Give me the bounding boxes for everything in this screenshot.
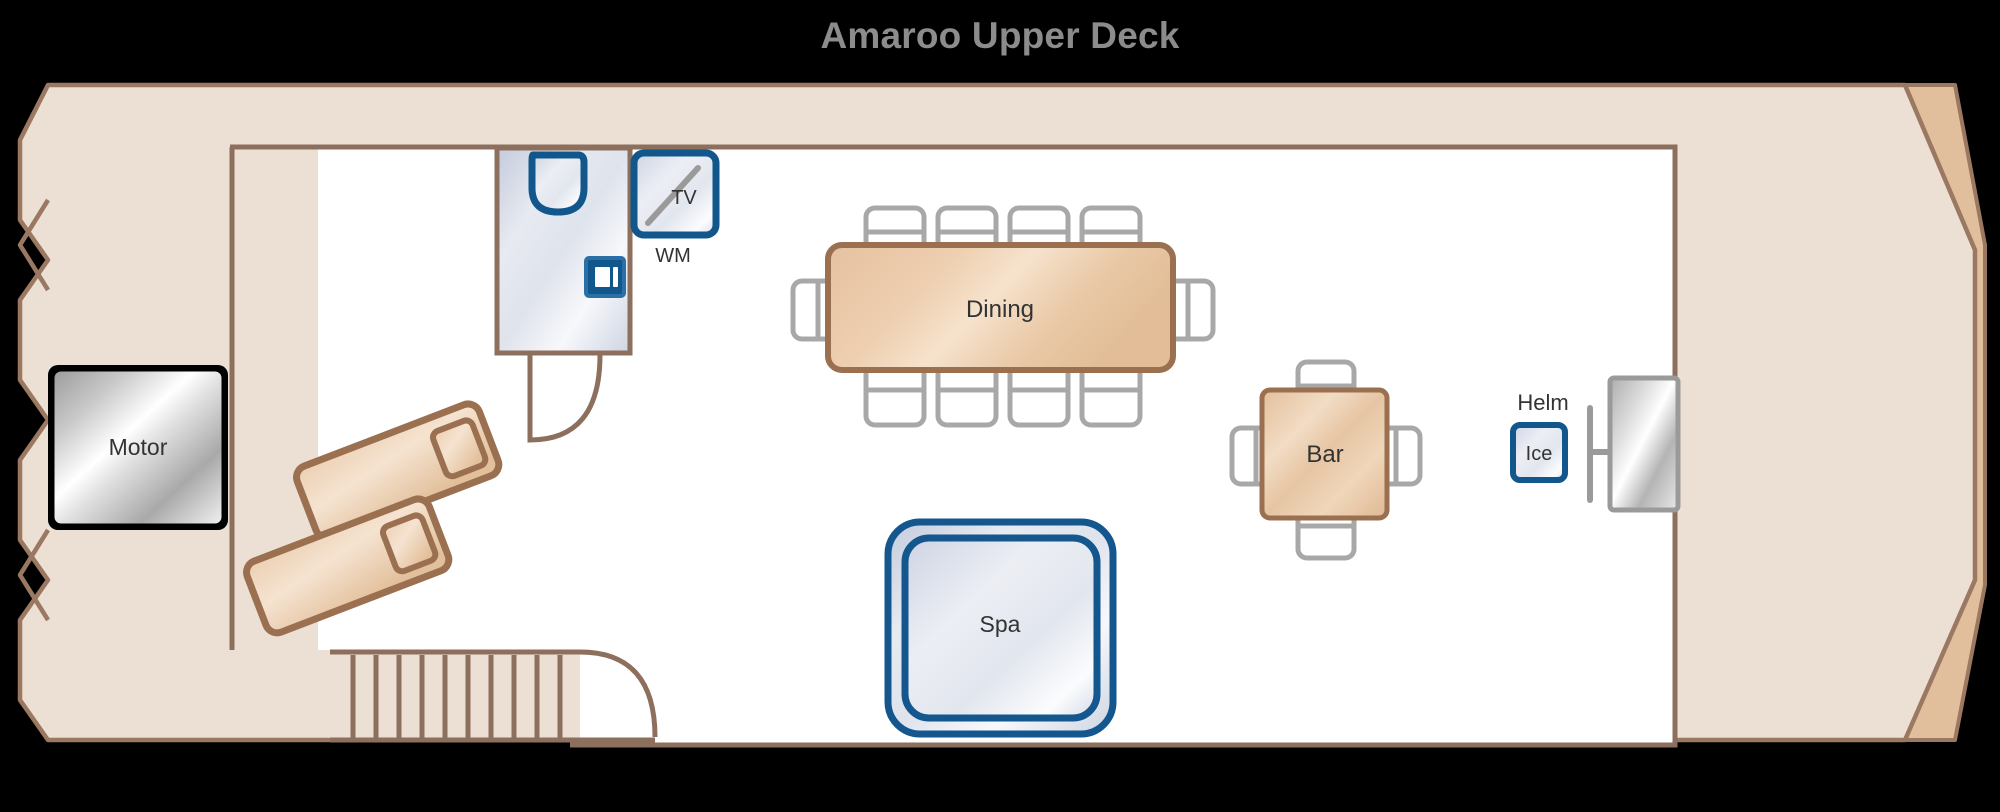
motor-label: Motor	[109, 434, 168, 460]
ice-label: Ice	[1526, 443, 1553, 465]
floorplan-canvas: Amaroo Upper Deck	[0, 0, 2000, 812]
washing-machine-icon	[586, 258, 624, 296]
bar-label: Bar	[1306, 441, 1343, 468]
spa[interactable]: Spa	[888, 522, 1113, 734]
helm-console[interactable]	[1610, 378, 1678, 510]
deck-drawing: Motor TV WM	[0, 0, 2000, 812]
spa-label: Spa	[980, 611, 1021, 637]
dining-label: Dining	[966, 296, 1034, 323]
helm-label: Helm	[1517, 390, 1568, 415]
motor-block[interactable]: Motor	[48, 365, 228, 530]
tv-label: TV	[671, 187, 697, 209]
wm-label: WM	[655, 245, 691, 267]
toilet-icon	[532, 155, 584, 212]
stairs-body	[330, 652, 580, 740]
